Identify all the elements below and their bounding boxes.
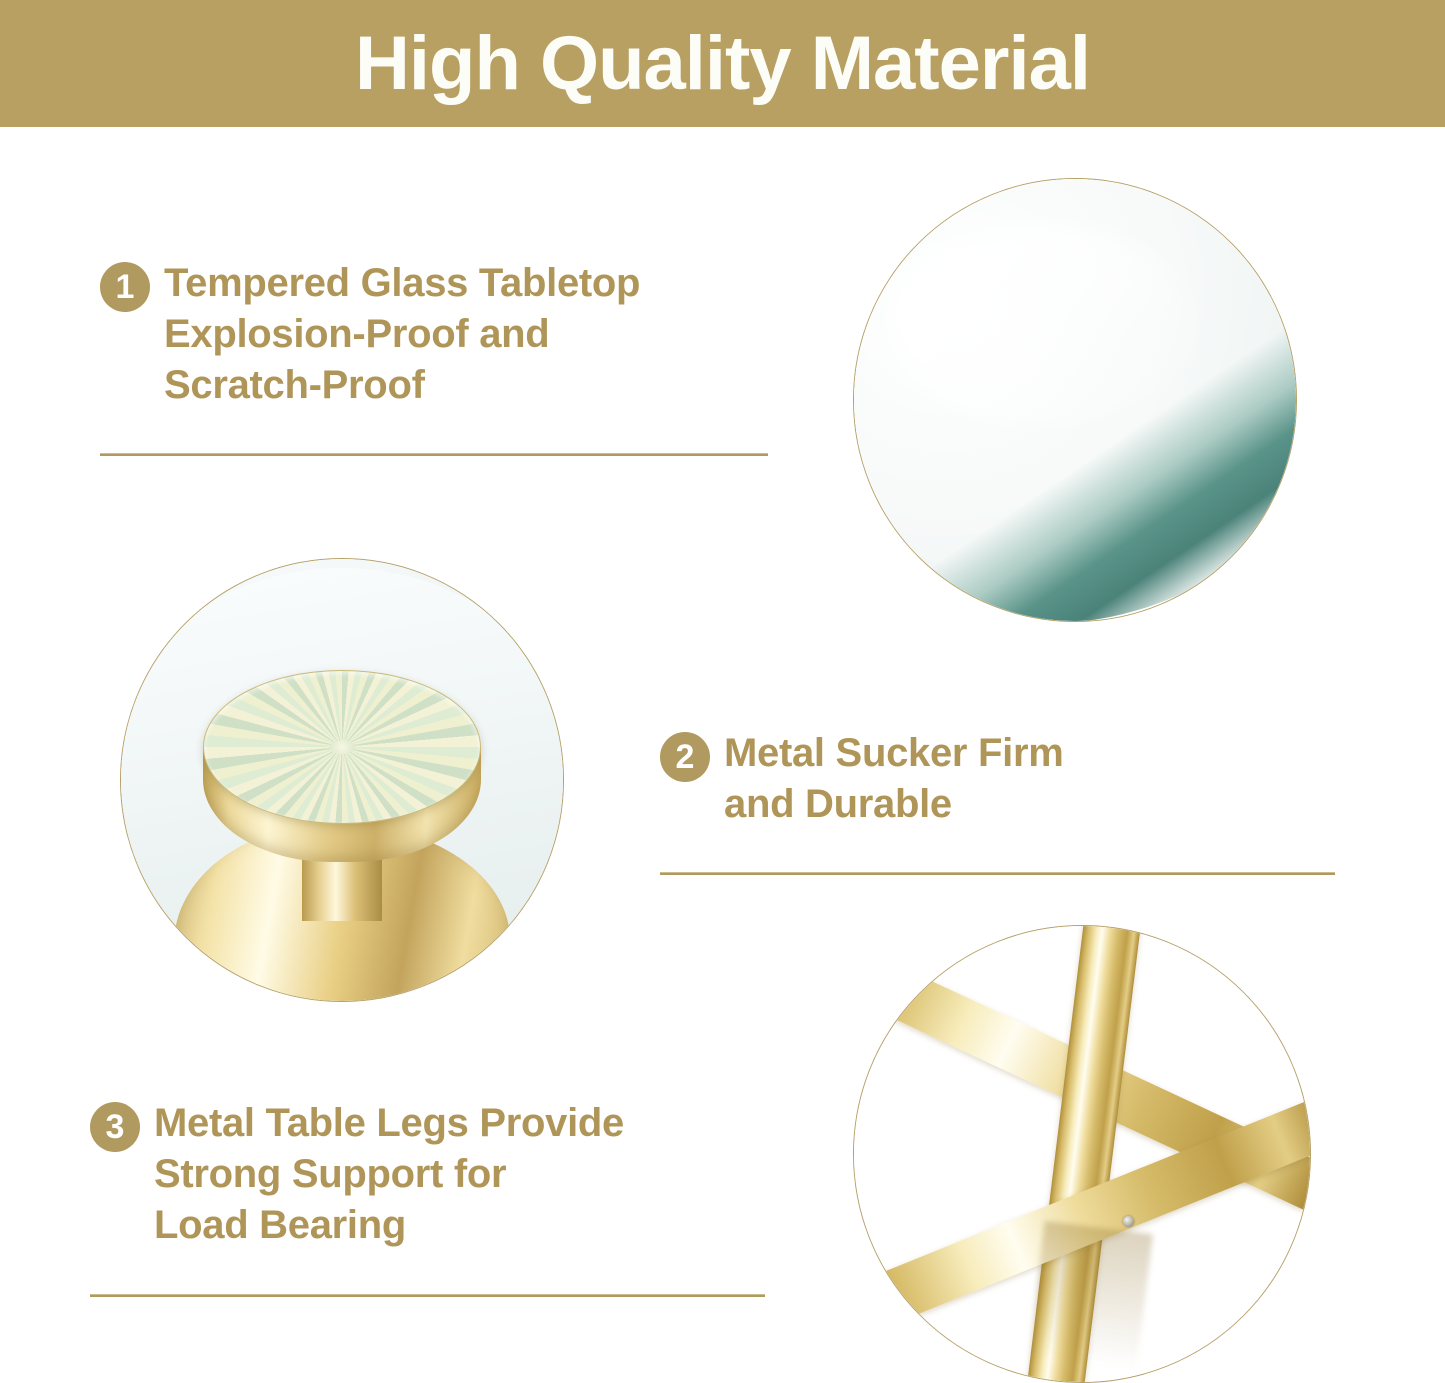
feature-1-line-2: Explosion-Proof and	[164, 309, 640, 360]
glass-photo-canvas	[854, 179, 1296, 621]
feature-3-number-badge: 3	[90, 1102, 140, 1152]
feature-2-line-2: and Durable	[724, 779, 1063, 830]
feature-block-2: 2 Metal Sucker Firm and Durable	[660, 728, 1336, 875]
feature-3-line-1: Metal Table Legs Provide	[154, 1098, 624, 1149]
feature-3-line-3: Load Bearing	[154, 1200, 624, 1251]
feature-3-text: Metal Table Legs Provide Strong Support …	[154, 1098, 624, 1252]
junction-screw-icon	[1123, 1216, 1134, 1227]
sucker-brushed-top	[203, 670, 481, 825]
feature-2-heading: 2 Metal Sucker Firm and Durable	[660, 728, 1336, 830]
feature-3-line-2: Strong Support for	[154, 1149, 624, 1200]
page-title: High Quality Material	[355, 26, 1090, 102]
infographic-page: High Quality Material 1 Tempered Glass T…	[0, 0, 1445, 1383]
feature-2-line-1: Metal Sucker Firm	[724, 728, 1063, 779]
feature-1-number-badge: 1	[100, 262, 150, 312]
metal-table-legs-photo	[853, 925, 1311, 1383]
feature-1-text: Tempered Glass Tabletop Explosion-Proof …	[164, 258, 640, 412]
feature-block-1: 1 Tempered Glass Tabletop Explosion-Proo…	[100, 258, 772, 456]
header-banner: High Quality Material	[0, 0, 1445, 127]
feature-1-heading: 1 Tempered Glass Tabletop Explosion-Proo…	[100, 258, 772, 412]
sucker-photo-canvas	[121, 559, 563, 1001]
tempered-glass-tabletop-photo	[853, 178, 1297, 622]
metal-sucker-photo	[120, 558, 564, 1002]
feature-block-3: 3 Metal Table Legs Provide Strong Suppor…	[90, 1098, 768, 1297]
feature-2-text: Metal Sucker Firm and Durable	[724, 728, 1063, 830]
glass-highlight	[889, 223, 1198, 426]
tube-junction-shadow	[1028, 1221, 1153, 1370]
feature-3-divider	[90, 1294, 765, 1297]
feature-2-divider	[660, 872, 1335, 875]
feature-2-number-badge: 2	[660, 732, 710, 782]
feature-1-divider	[100, 453, 768, 456]
legs-photo-canvas	[854, 926, 1310, 1382]
feature-3-heading: 3 Metal Table Legs Provide Strong Suppor…	[90, 1098, 768, 1252]
feature-1-line-1: Tempered Glass Tabletop	[164, 258, 640, 309]
feature-1-line-3: Scratch-Proof	[164, 360, 640, 411]
